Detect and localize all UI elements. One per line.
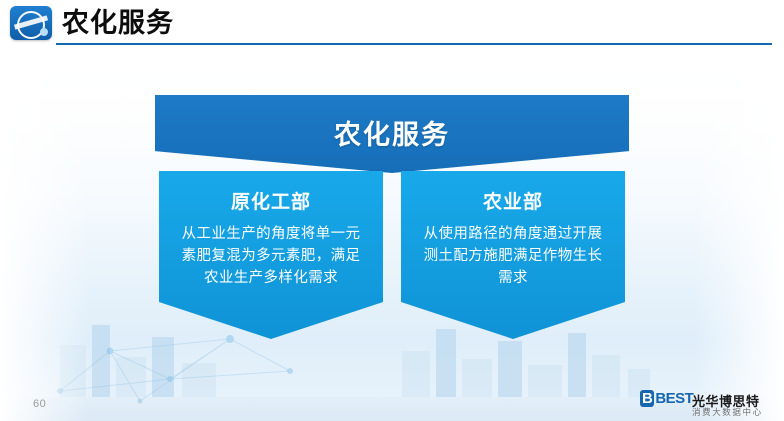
diagram-banner-label: 农化服务 (155, 113, 629, 152)
slide: 农化服务 (0, 0, 784, 421)
brand-subtitle: 消费大数据中心 (692, 406, 763, 418)
skyline-building (568, 333, 586, 403)
diagram-card-right: 农业部 从使用路径的角度通过开展测土配方施肥满足作物生长需求 (401, 171, 625, 339)
chevron-diagram: 农化服务 原化工部 从工业生产的角度将单一元素肥复混为多元素肥，满足农业生产多样… (155, 95, 629, 340)
diagram-card-left-title: 原化工部 (159, 187, 383, 214)
diagram-card-right-title: 农业部 (401, 187, 625, 214)
skyline-building (592, 355, 620, 403)
company-shield-logo-icon (10, 6, 52, 40)
header-divider (56, 43, 772, 45)
logo-dot-shape (40, 28, 48, 36)
photo-fade-right (694, 50, 784, 421)
skyline-building (402, 351, 430, 403)
photo-fade-left (0, 50, 90, 421)
skyline-building (436, 329, 456, 403)
brand-footer: BBEST 光华博思特 消费大数据中心 (640, 390, 768, 416)
page-title: 农化服务 (62, 5, 174, 41)
diagram-card-right-body: 从使用路径的角度通过开展测土配方施肥满足作物生长需求 (417, 223, 609, 289)
brand-logo-icon: BBEST (640, 390, 693, 407)
slide-header: 农化服务 (0, 0, 784, 50)
skyline-building (498, 341, 522, 403)
diagram-card-left: 原化工部 从工业生产的角度将单一元素肥复混为多元素肥，满足农业生产多样化需求 (159, 171, 383, 339)
brand-mark-badge: B (640, 390, 654, 407)
brand-mark-text: BEST (655, 390, 693, 407)
diagram-card-left-body: 从工业生产的角度将单一元素肥复混为多元素肥，满足农业生产多样化需求 (175, 223, 367, 289)
page-number: 60 (33, 398, 46, 410)
